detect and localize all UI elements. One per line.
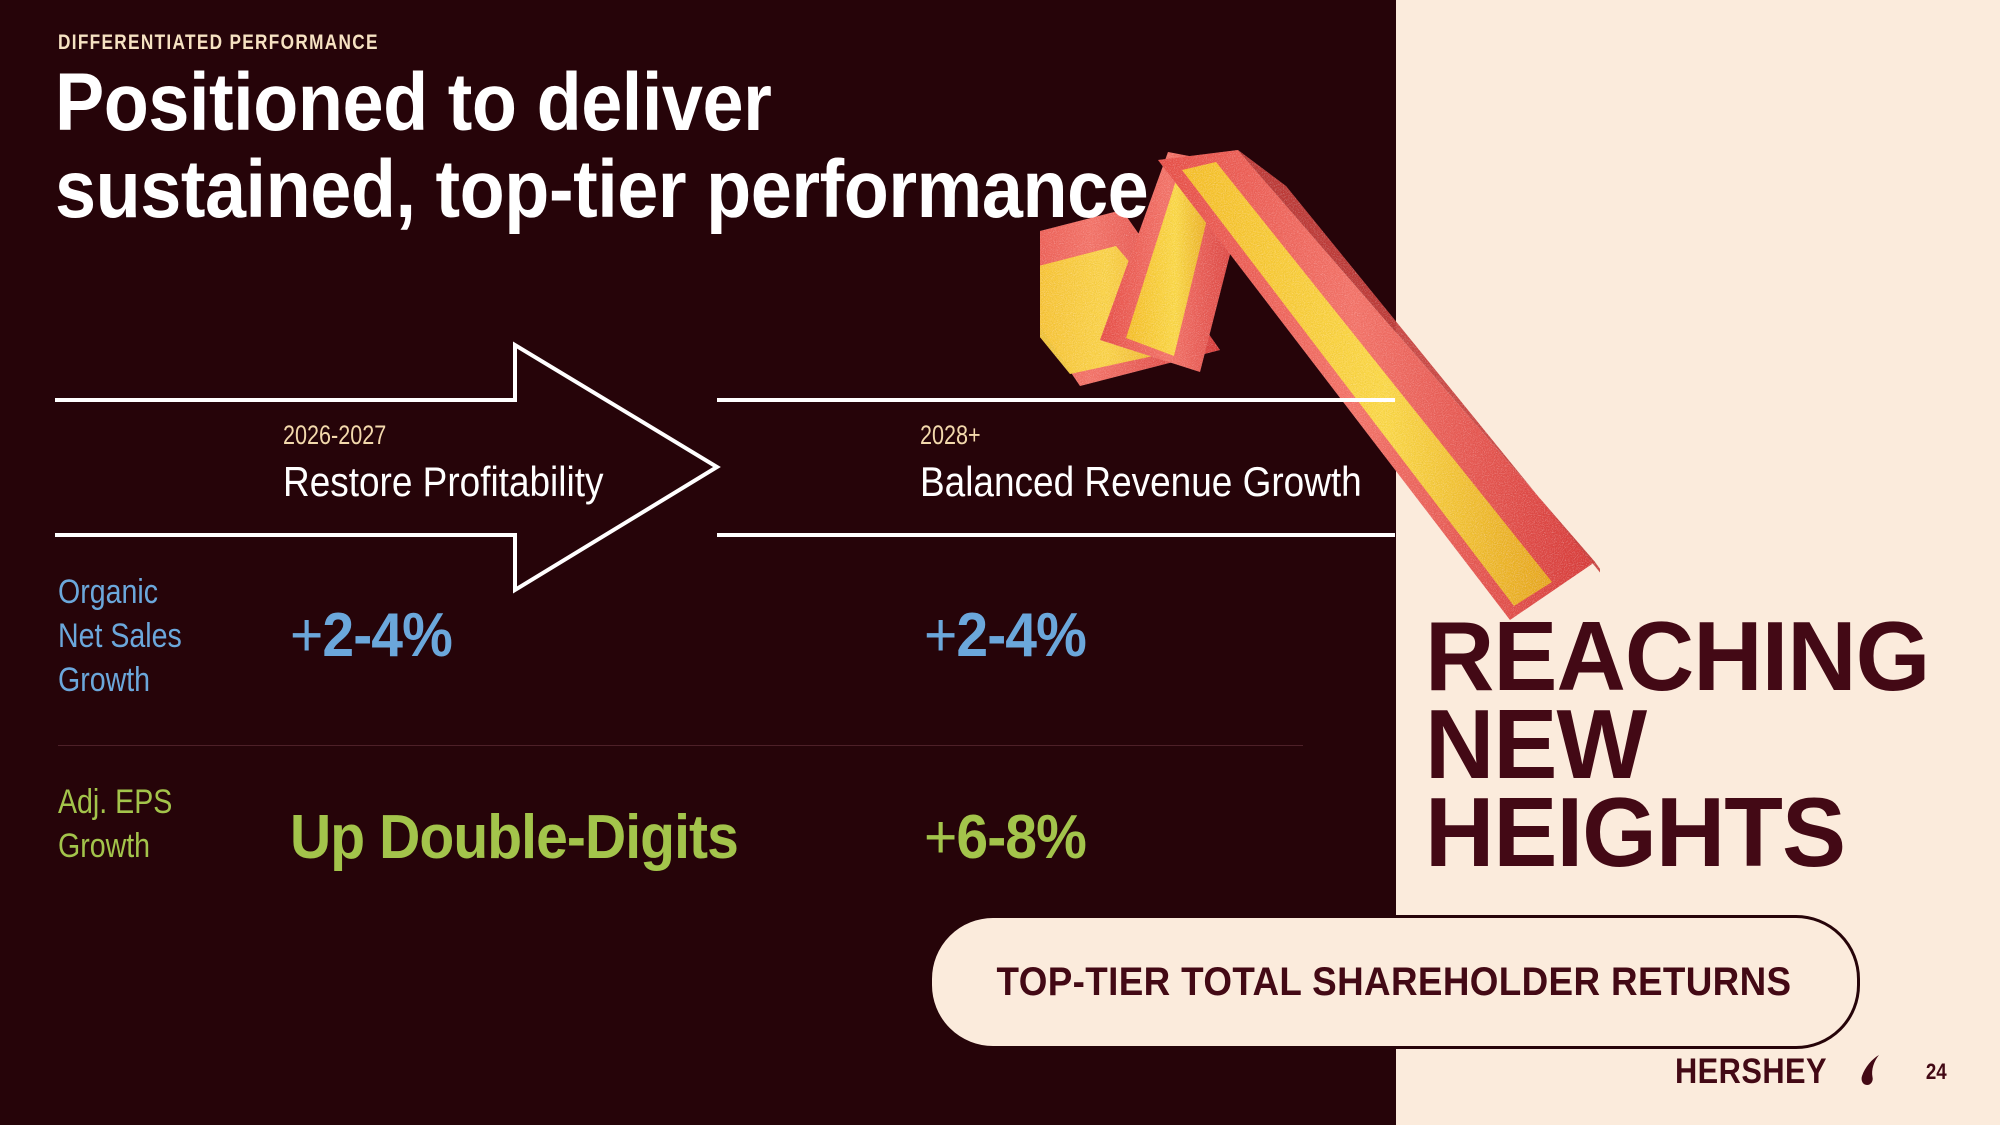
timeline-phase-1: 2028+ Balanced Revenue Growth — [920, 420, 1422, 506]
hershey-wordmark: HERSHEY — [1675, 1054, 1827, 1089]
metric-number: Up Double-Digits — [290, 803, 738, 872]
metric-number: 2-4% — [956, 601, 1085, 670]
slide-root: DIFFERENTIATED PERFORMANCE Positioned to… — [0, 0, 2000, 1125]
metric-row: Organic Net Sales Growth +2-4% +2-4% — [58, 570, 1298, 730]
metric-value: +2-4% — [924, 600, 1086, 671]
metric-divider — [58, 745, 1303, 746]
metric-number: 2-4% — [322, 601, 451, 670]
metric-label: Adj. EPS Growth — [58, 780, 172, 868]
phase-title: Balanced Revenue Growth — [920, 458, 1362, 506]
metric-label: Organic Net Sales Growth — [58, 570, 182, 703]
timeline-phase-0: 2026-2027 Restore Profitability — [283, 420, 647, 506]
page-title: Positioned to deliver sustained, top-tie… — [55, 60, 1148, 234]
page-number: 24 — [1925, 1059, 1946, 1085]
phase-years: 2028+ — [920, 420, 1322, 451]
metric-row: Adj. EPS Growth Up Double-Digits +6-8% — [58, 780, 1298, 930]
metric-sign: + — [924, 803, 956, 872]
metric-sign: + — [290, 601, 322, 670]
hershey-kiss-icon — [1852, 1054, 1882, 1088]
metric-number: 6-8% — [956, 803, 1085, 872]
top-tier-returns-banner[interactable]: TOP-TIER TOTAL SHAREHOLDER RETURNS — [929, 915, 1860, 1049]
metric-value: +2-4% — [290, 600, 452, 671]
cta-label: TOP-TIER TOTAL SHAREHOLDER RETURNS — [997, 960, 1792, 1005]
phase-years: 2026-2027 — [283, 420, 574, 451]
metric-sign: + — [924, 601, 956, 670]
hershey-logo: HERSHEY — [1675, 1054, 1882, 1089]
phase-title: Restore Profitability — [283, 458, 603, 506]
metric-value: +6-8% — [924, 802, 1086, 873]
reaching-new-heights-title: REACHING NEW HEIGHTS — [1425, 612, 1989, 877]
eyebrow-label: DIFFERENTIATED PERFORMANCE — [58, 31, 379, 55]
metric-value: Up Double-Digits — [290, 802, 738, 873]
